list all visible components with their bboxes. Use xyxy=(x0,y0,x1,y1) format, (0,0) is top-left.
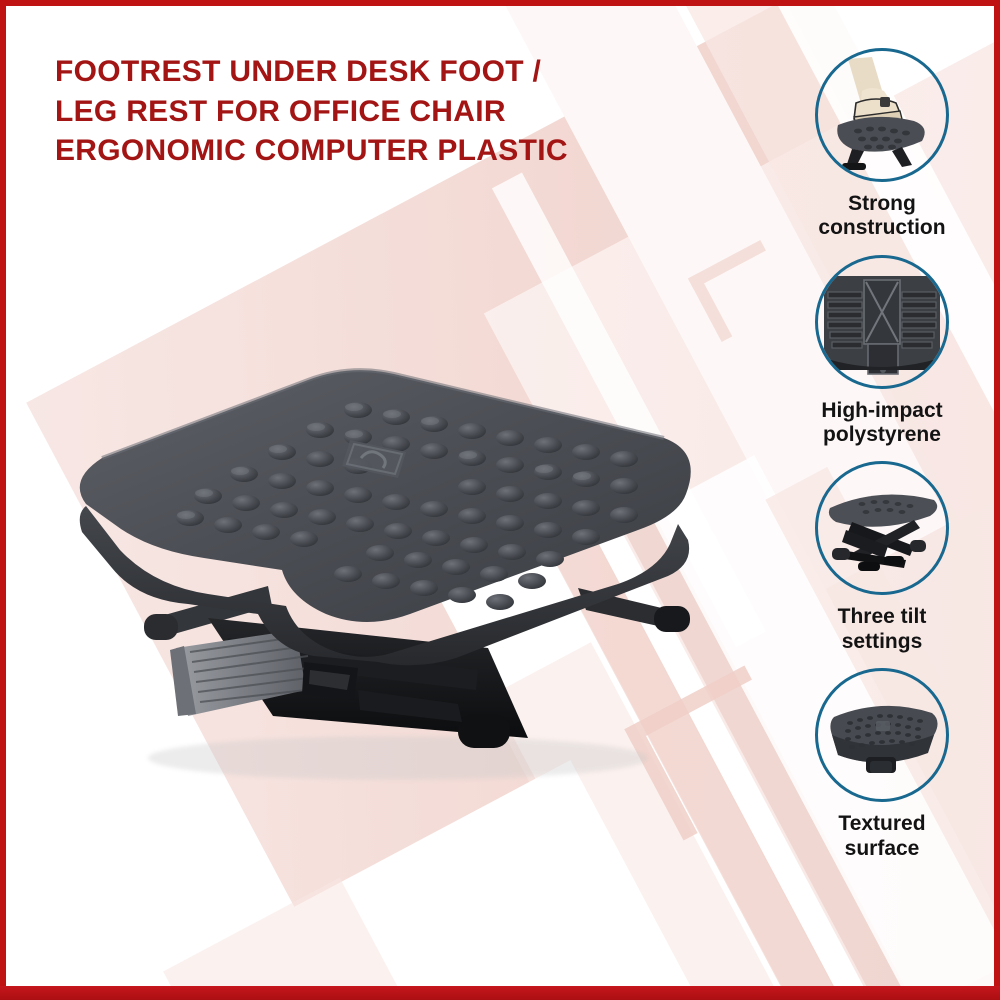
page-title-line-3: ERGONOMIC COMPUTER PLASTIC xyxy=(55,131,705,171)
feature-three-tilt-settings[interactable]: Three tilt settings xyxy=(782,461,982,654)
feature-label-line-2: settings xyxy=(842,630,923,653)
feature-label-line-2: construction xyxy=(818,216,945,239)
feature-label-line-1: High-impact xyxy=(821,399,942,422)
foot-on-footrest-icon xyxy=(815,48,949,182)
footrest-illustration xyxy=(58,318,718,788)
frame-border-top xyxy=(0,0,1000,6)
feature-list: Strong construction xyxy=(782,48,982,875)
feature-label: Three tilt settings xyxy=(792,605,972,654)
page-title-line-1: FOOTREST UNDER DESK FOOT / xyxy=(55,52,705,92)
foot-on-footrest-glyph xyxy=(818,51,946,179)
tilt-mechanism-glyph xyxy=(818,464,946,592)
frame-border-right xyxy=(994,0,1000,1000)
feature-label-line-1: Strong xyxy=(848,192,916,215)
feature-label: High-impact polystyrene xyxy=(792,399,972,448)
feature-label-line-2: surface xyxy=(845,837,920,860)
feature-label-line-1: Textured xyxy=(838,812,925,835)
product-image-canvas: FOOTREST UNDER DESK FOOT / LEG REST FOR … xyxy=(0,0,1000,1000)
feature-strong-construction[interactable]: Strong construction xyxy=(782,48,982,241)
frame-border-bottom xyxy=(0,986,1000,1000)
feature-label: Strong construction xyxy=(792,192,972,241)
textured-footrest-glyph xyxy=(818,671,946,799)
page-title: FOOTREST UNDER DESK FOOT / LEG REST FOR … xyxy=(55,52,705,171)
feature-high-impact-polystyrene[interactable]: High-impact polystyrene xyxy=(782,255,982,448)
page-title-line-2: LEG REST FOR OFFICE CHAIR xyxy=(55,92,705,132)
textured-footrest-icon xyxy=(815,668,949,802)
feature-label-line-2: polystyrene xyxy=(823,423,941,446)
underside-ribbing-icon xyxy=(815,255,949,389)
tilt-mechanism-icon xyxy=(815,461,949,595)
underside-ribbing-glyph xyxy=(818,258,946,386)
feature-label-line-1: Three tilt xyxy=(838,605,927,628)
feature-label: Textured surface xyxy=(792,812,972,861)
frame-border-left xyxy=(0,0,6,1000)
product-hero-image xyxy=(58,318,718,788)
feature-textured-surface[interactable]: Textured surface xyxy=(782,668,982,861)
